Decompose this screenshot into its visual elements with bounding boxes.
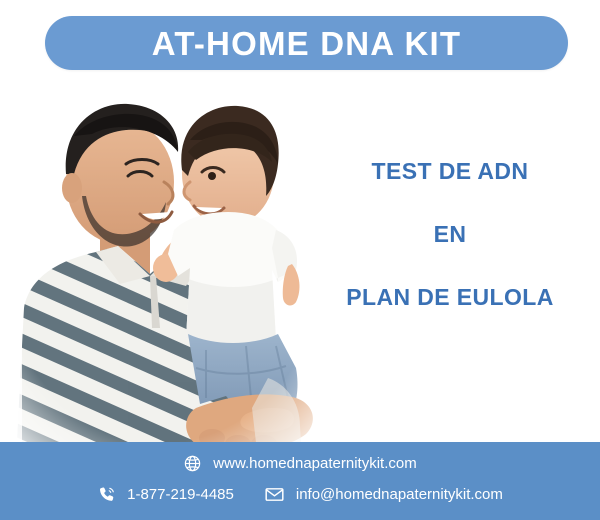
footer-website-row: www.homednapaternitykit.com (0, 454, 600, 473)
email-contact-item[interactable]: info@homednapaternitykit.com (264, 484, 503, 505)
email-label: info@homednapaternitykit.com (296, 487, 503, 502)
header-banner: AT-HOME DNA KIT (45, 16, 568, 70)
phone-icon (97, 485, 116, 504)
website-contact-item[interactable]: www.homednapaternitykit.com (183, 454, 416, 473)
headline-block: TEST DE ADN EN PLAN DE EULOLA (310, 160, 590, 309)
website-label: www.homednapaternitykit.com (213, 456, 416, 471)
footer-contact-row: 1-877-219-4485 info@homednapaternitykit.… (0, 484, 600, 505)
globe-icon (183, 454, 202, 473)
page-title: AT-HOME DNA KIT (152, 27, 461, 60)
envelope-icon (264, 484, 285, 505)
family-photo (0, 78, 325, 460)
promo-card: AT-HOME DNA KIT (0, 0, 600, 520)
phone-contact-item[interactable]: 1-877-219-4485 (97, 485, 234, 504)
headline-line-1: TEST DE ADN (310, 160, 590, 183)
headline-line-3: PLAN DE EULOLA (310, 286, 590, 309)
footer-bar: www.homednapaternitykit.com 1-877-219-44… (0, 442, 600, 520)
headline-line-2: EN (310, 223, 590, 246)
phone-label: 1-877-219-4485 (127, 487, 234, 502)
